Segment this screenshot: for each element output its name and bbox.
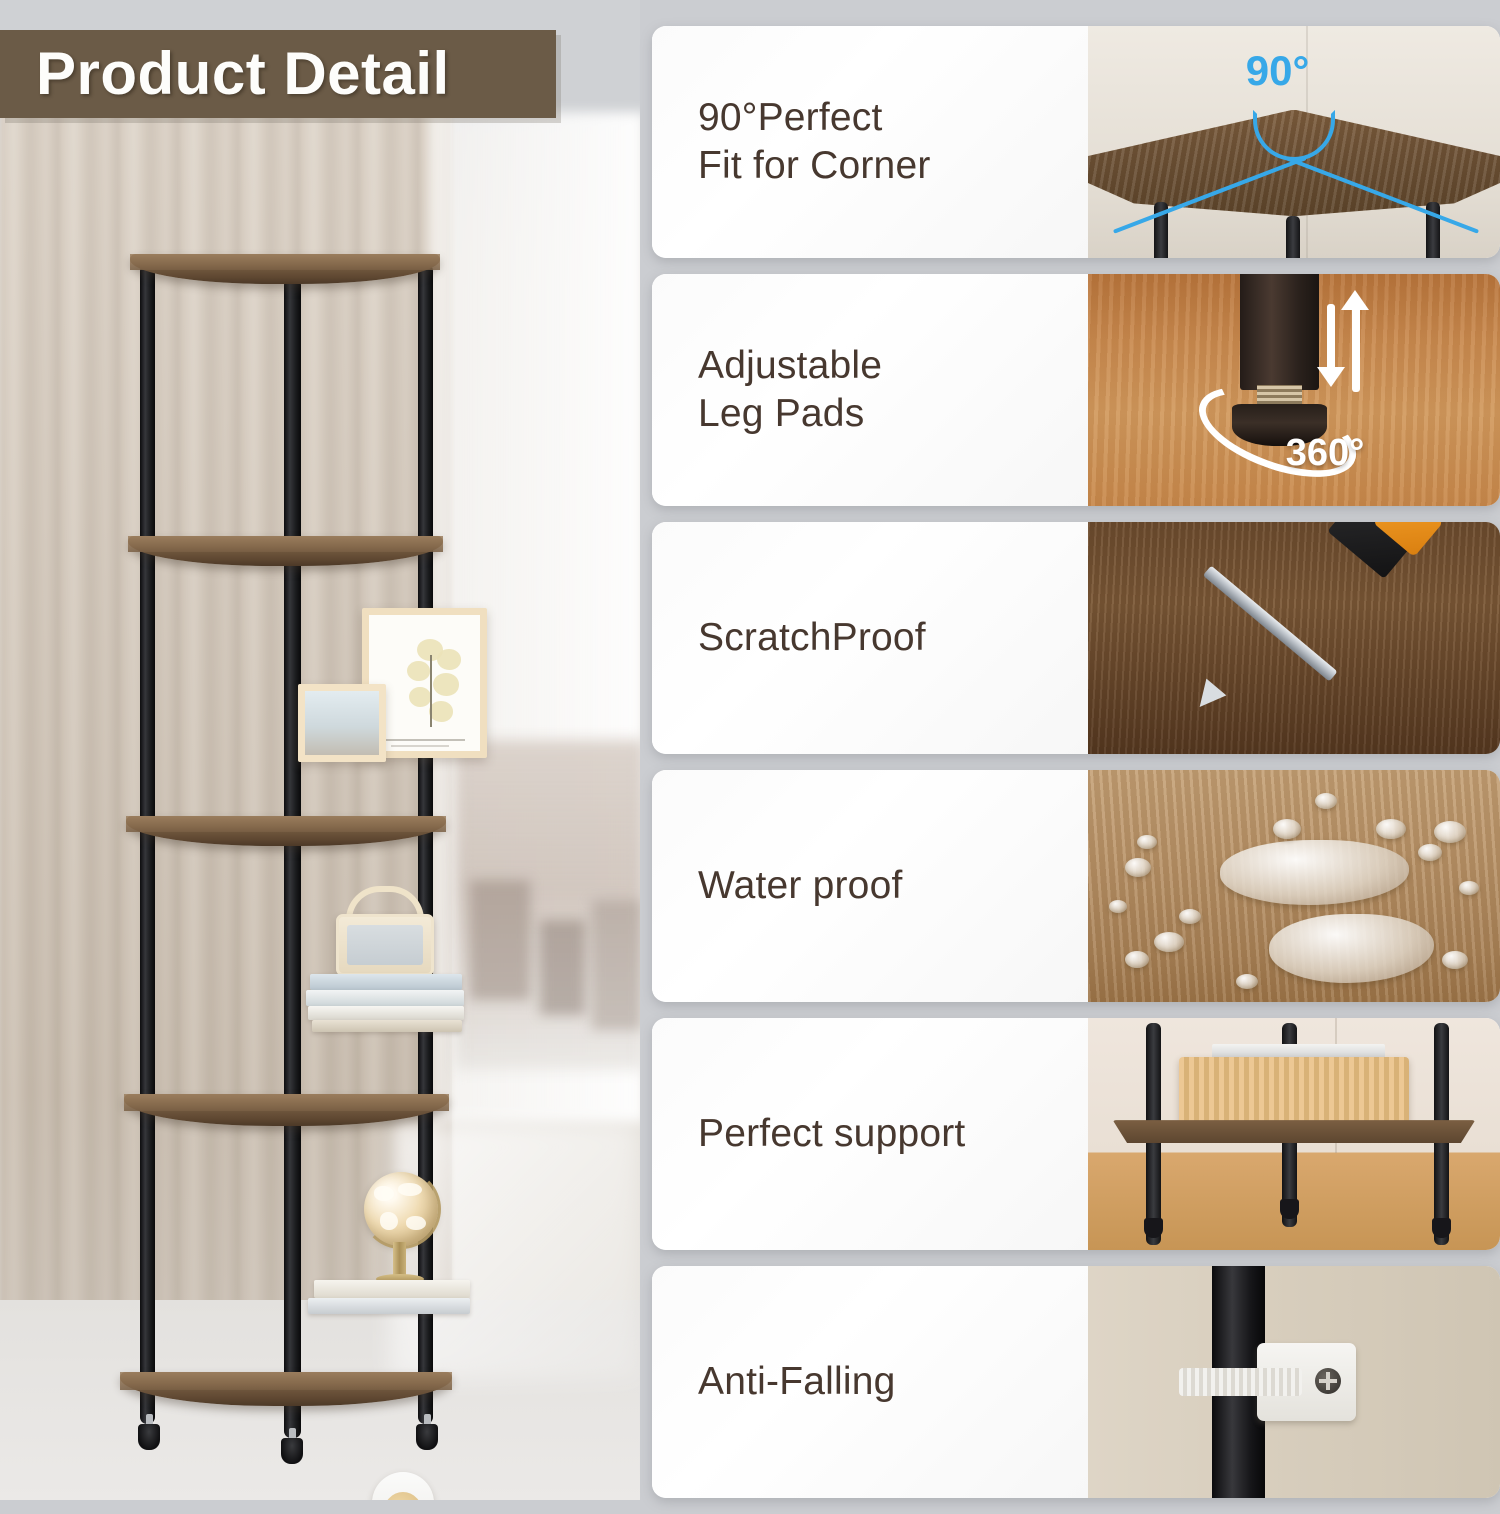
arrow-head-up-icon xyxy=(1341,290,1369,310)
feature-label-line1: 90°Perfect xyxy=(698,94,931,142)
anti-tip-strap xyxy=(1179,1368,1303,1396)
shelf-top-surface xyxy=(130,254,440,270)
shelf-board-3 xyxy=(126,816,446,846)
shelf-post-center xyxy=(284,278,301,1438)
woven-basket xyxy=(1179,1057,1410,1127)
feature-label-text: ScratchProof xyxy=(698,614,926,662)
water-droplet xyxy=(1125,951,1149,968)
feature-card-corner-fit[interactable]: 90°Perfect Fit for Corner 90° xyxy=(652,26,1500,258)
feature-card-anti-falling[interactable]: Anti-Falling xyxy=(652,1266,1500,1498)
shelf-top-surface xyxy=(120,1372,452,1390)
leaf-shape xyxy=(433,673,459,696)
water-droplet xyxy=(1273,819,1301,839)
leaf-shape xyxy=(407,661,430,681)
leg-pad xyxy=(1144,1218,1163,1238)
feature-label-line1: Water proof xyxy=(698,862,903,910)
feature-label-text: Perfect support xyxy=(698,1110,965,1158)
feature-card-label-area: 90°Perfect Fit for Corner xyxy=(652,26,1088,258)
feature-label-text: 90°Perfect Fit for Corner xyxy=(698,94,931,189)
feature-card-adjustable-leg-pads[interactable]: Adjustable Leg Pads 360° xyxy=(652,274,1500,506)
book xyxy=(308,1298,470,1314)
feature-card-waterproof[interactable]: Water proof xyxy=(652,770,1500,1002)
globe-meridian-ring xyxy=(361,1169,441,1249)
book xyxy=(314,1280,470,1298)
feature-card-label-area: Anti-Falling xyxy=(652,1266,1088,1498)
feature-card-scratchproof[interactable]: ScratchProof xyxy=(652,522,1500,754)
corner-shelf-unit xyxy=(118,236,488,1456)
water-droplet xyxy=(1109,900,1127,913)
leaf-shape xyxy=(409,687,431,707)
city-building xyxy=(540,920,585,1015)
feature-card-list: 90°Perfect Fit for Corner 90° Adjustable… xyxy=(652,26,1500,1514)
feature-label-line1: Perfect support xyxy=(698,1110,965,1158)
feature-label-text: Anti-Falling xyxy=(698,1358,895,1406)
feature-label-line1: Adjustable xyxy=(698,342,882,390)
product-photo-panel xyxy=(0,0,640,1500)
shelf-board-2 xyxy=(128,536,443,566)
water-droplet xyxy=(1376,819,1406,839)
feature-label-text: Water proof xyxy=(698,862,903,910)
shelf-board-5 xyxy=(120,1372,452,1406)
angle-annotation: 90° xyxy=(1246,47,1310,95)
retro-radio xyxy=(336,914,434,976)
frame-caption-line xyxy=(391,745,449,747)
screw-icon xyxy=(1315,1368,1341,1394)
book xyxy=(308,1006,464,1020)
feature-card-label-area: Perfect support xyxy=(652,1018,1088,1250)
water-droplet xyxy=(1418,844,1442,861)
feature-label-line1: ScratchProof xyxy=(698,614,926,662)
leg-pad xyxy=(281,1438,303,1464)
shelf-top-surface xyxy=(128,536,443,552)
radio-face xyxy=(347,925,423,965)
feature-label-line2: Fit for Corner xyxy=(698,142,931,190)
feature-card-label-area: ScratchProof xyxy=(652,522,1088,754)
height-arrow-up xyxy=(1352,304,1360,392)
leaf-shape xyxy=(429,701,453,722)
shelf-leg xyxy=(1286,216,1300,258)
feature-card-image-scratchproof xyxy=(1088,522,1500,754)
water-droplet xyxy=(1315,793,1337,809)
feature-card-image-waterproof xyxy=(1088,770,1500,1002)
feature-label-text: Adjustable Leg Pads xyxy=(698,342,882,437)
feature-card-label-area: Water proof xyxy=(652,770,1088,1002)
water-droplet xyxy=(1179,909,1201,924)
book xyxy=(306,990,464,1006)
leaf-stem xyxy=(430,655,432,727)
leg-pad xyxy=(1280,1199,1299,1219)
feature-card-image-corner-fit: 90° xyxy=(1088,26,1500,258)
globe-stem xyxy=(393,1242,406,1276)
feature-label-line1: Anti-Falling xyxy=(698,1358,895,1406)
leg-pad xyxy=(416,1424,438,1450)
arrow-head-down-icon xyxy=(1317,367,1345,387)
rotation-annotation: 360° xyxy=(1286,432,1365,475)
shelf-board-4 xyxy=(124,1094,449,1126)
feature-card-label-area: Adjustable Leg Pads xyxy=(652,274,1088,506)
city-building xyxy=(592,900,640,1030)
leg-pad xyxy=(138,1424,160,1450)
shelf-board xyxy=(1113,1120,1476,1143)
feature-card-image-anti-falling xyxy=(1088,1266,1500,1498)
shelf-board-1 xyxy=(130,254,440,284)
frame-caption-line xyxy=(381,739,465,741)
feature-card-image-perfect-support xyxy=(1088,1018,1500,1250)
feature-card-image-leg-pads: 360° xyxy=(1088,274,1500,506)
book xyxy=(312,1020,462,1032)
water-droplet xyxy=(1434,821,1466,843)
shelf-top-surface xyxy=(126,816,446,832)
shelf-post-right xyxy=(418,264,433,1424)
shelf-top-surface xyxy=(124,1094,449,1111)
shelf-leg xyxy=(1240,274,1318,390)
feature-label-line2: Leg Pads xyxy=(698,390,882,438)
feature-card-perfect-support[interactable]: Perfect support xyxy=(652,1018,1500,1250)
book xyxy=(310,974,462,990)
height-arrow-down xyxy=(1327,304,1335,374)
beach-picture-frame xyxy=(298,684,386,762)
clock-face xyxy=(383,1492,423,1500)
shelf-post-left xyxy=(140,264,155,1424)
leaf-shape xyxy=(437,649,461,670)
page-title: Product Detail xyxy=(0,44,450,104)
page-title-banner: Product Detail xyxy=(0,30,556,118)
leg-pad xyxy=(1432,1218,1451,1238)
